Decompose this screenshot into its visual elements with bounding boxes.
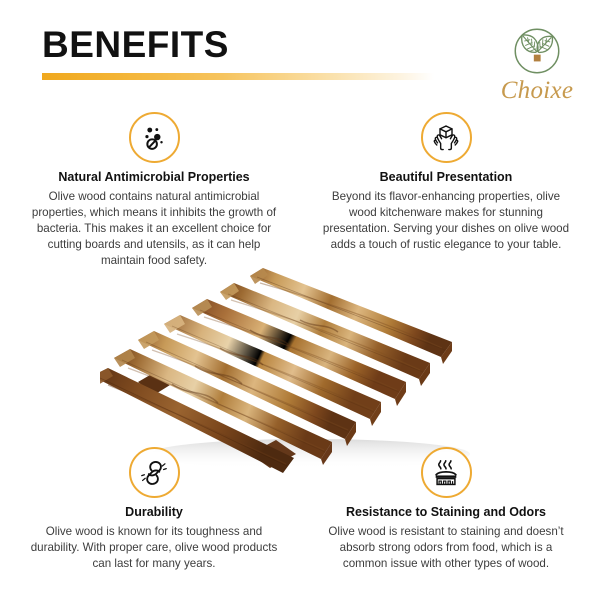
- brand-logo: Choixe: [487, 22, 587, 114]
- benefit-title: Durability: [20, 505, 288, 520]
- benefit-durability: Durability Olive wood is known for its t…: [20, 447, 288, 572]
- page-title: BENEFITS: [42, 26, 229, 63]
- chain-link-icon: [140, 459, 168, 487]
- benefit-icon-ring: [421, 112, 472, 163]
- olive-wood-trivet-illustration: [100, 258, 500, 473]
- benefit-antimicrobial: Natural Antimicrobial Properties Olive w…: [20, 112, 288, 268]
- steam-hotplate-icon: [431, 458, 461, 488]
- germ-bacteria-blocked-icon: [139, 123, 169, 153]
- benefit-icon-ring: [421, 447, 472, 498]
- hands-holding-box-icon: [431, 123, 461, 153]
- benefit-stain-odor: Resistance to Staining and Odors Olive w…: [312, 447, 580, 572]
- benefit-title: Resistance to Staining and Odors: [312, 505, 580, 520]
- benefit-title: Beautiful Presentation: [312, 170, 580, 185]
- benefit-body: Olive wood is resistant to staining and …: [312, 524, 580, 572]
- benefit-body: Olive wood is known for its toughness an…: [20, 524, 288, 572]
- benefit-icon-ring: [129, 447, 180, 498]
- benefit-presentation: Beautiful Presentation Beyond its flavor…: [312, 112, 580, 253]
- benefit-body: Olive wood contains natural antimicrobia…: [20, 189, 288, 268]
- leaf-circle-logo-icon: [508, 22, 566, 80]
- infographic-poster: BENEFITS Choixe: [0, 0, 600, 600]
- brand-name: Choixe: [487, 78, 587, 103]
- benefit-body: Beyond its flavor-enhancing properties, …: [312, 189, 580, 253]
- benefit-title: Natural Antimicrobial Properties: [20, 170, 288, 185]
- benefit-icon-ring: [129, 112, 180, 163]
- title-underline-rule: [42, 73, 434, 80]
- product-image-olive-wood-trivet: [100, 258, 500, 473]
